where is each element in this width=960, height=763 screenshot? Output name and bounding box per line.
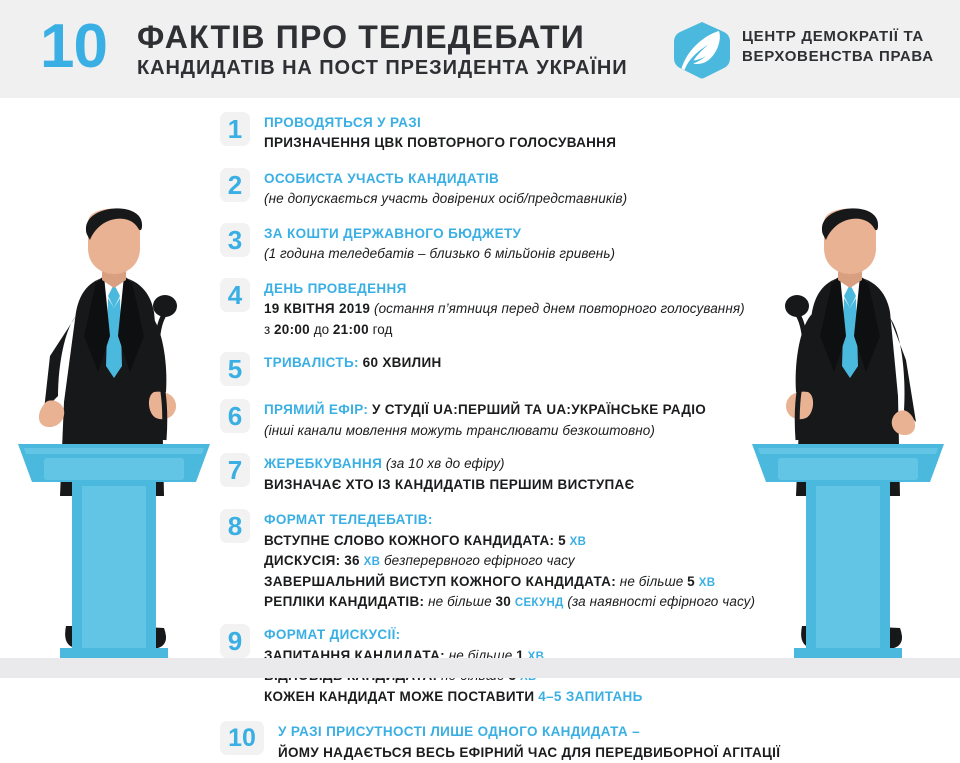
fact-line: ВИЗНАЧАЄ ХТО ІЗ КАНДИДАТІВ ПЕРШИМ ВИСТУП… <box>264 475 635 495</box>
fact-body: У РАЗІ ПРИСУТНОСТІ ЛИШЕ ОДНОГО КАНДИДАТА… <box>278 721 780 763</box>
fact-number-badge: 2 <box>220 168 250 202</box>
fact-text-segment: ВСТУПНЕ СЛОВО КОЖНОГО КАНДИДАТА: <box>264 533 554 548</box>
fact-body: ОСОБИСТА УЧАСТЬ КАНДИДАТІВ(не допускаєть… <box>264 168 627 210</box>
fact-text-segment: не більше <box>620 574 684 589</box>
fact-line: (не допускається участь довірених осіб/п… <box>264 189 627 209</box>
fact-line: ЙОМУ НАДАЄТЬСЯ ВЕСЬ ЕФІРНИЙ ЧАС ДЛЯ ПЕРЕ… <box>278 743 780 763</box>
fact-line: ФОРМАТ ДИСКУСІЇ: <box>264 625 643 645</box>
fact-text-segment: 5 <box>558 533 566 548</box>
organization-logo: ЦЕНТР ДЕМОКРАТІЇ ТА ВЕРХОВЕНСТВА ПРАВА <box>672 18 940 82</box>
fact-line: КОЖЕН КАНДИДАТ МОЖЕ ПОСТАВИТИ 4–5 ЗАПИТА… <box>264 687 643 707</box>
fact-text-segment: (за 10 хв до ефіру) <box>386 456 505 471</box>
fact-line: ТРИВАЛІСТЬ: 60 ХВИЛИН <box>264 353 442 373</box>
fact-text-segment: КОЖЕН КАНДИДАТ МОЖЕ ПОСТАВИТИ <box>264 689 534 704</box>
fact-text-segment: ПРОВОДЯТЬСЯ У РАЗІ <box>264 115 421 130</box>
fact-text-segment: ДЕНЬ ПРОВЕДЕННЯ <box>264 281 407 296</box>
header-band: 10 ФАКТІВ ПРО ТЕЛЕДЕБАТИ КАНДИДАТІВ НА П… <box>0 0 960 98</box>
fact-text-segment: до <box>310 322 333 337</box>
fact-item-2: 2ОСОБИСТА УЧАСТЬ КАНДИДАТІВ(не допускаєт… <box>220 168 790 210</box>
fact-text-segment: ДИСКУСІЯ: <box>264 553 340 568</box>
fact-line: ЗА КОШТИ ДЕРЖАВНОГО БЮДЖЕТУ <box>264 224 615 244</box>
fact-text-segment: 21:00 <box>333 322 369 337</box>
feather-quill-icon <box>672 20 732 80</box>
fact-line: ПРЯМИЙ ЕФІР: У СТУДІЇ UA:ПЕРШИЙ ТА UA:УК… <box>264 400 706 420</box>
fact-text-segment: СЕКУНД <box>515 597 564 609</box>
fact-item-5: 5ТРИВАЛІСТЬ: 60 ХВИЛИН <box>220 352 790 386</box>
fact-text-segment: ХВ <box>364 556 381 568</box>
fact-item-6: 6ПРЯМИЙ ЕФІР: У СТУДІЇ UA:ПЕРШИЙ ТА UA:У… <box>220 399 790 441</box>
fact-text-segment: У СТУДІЇ UA:ПЕРШИЙ ТА UA:УКРАЇНСЬКЕ РАДІ… <box>372 402 706 417</box>
page-title: ФАКТІВ ПРО ТЕЛЕДЕБАТИ <box>137 20 628 55</box>
header-big-number: 10 <box>40 16 107 78</box>
fact-number-badge: 3 <box>220 223 250 257</box>
logo-text: ЦЕНТР ДЕМОКРАТІЇ ТА ВЕРХОВЕНСТВА ПРАВА <box>742 27 934 68</box>
fact-text-segment: 5 <box>687 574 695 589</box>
fact-text-segment: У РАЗІ ПРИСУТНОСТІ ЛИШЕ ОДНОГО КАНДИДАТА… <box>278 724 640 739</box>
fact-line: (інші канали мовлення можуть транслювати… <box>264 421 706 441</box>
fact-body: ЗА КОШТИ ДЕРЖАВНОГО БЮДЖЕТУ(1 година тел… <box>264 223 615 265</box>
fact-text-segment: ТРИВАЛІСТЬ: <box>264 355 359 370</box>
fact-item-8: 8ФОРМАТ ТЕЛЕДЕБАТІВ:ВСТУПНЕ СЛОВО КОЖНОГ… <box>220 509 790 612</box>
fact-number-badge: 8 <box>220 509 250 543</box>
fact-text-segment: 30 <box>495 594 511 609</box>
fact-text-segment: ЙОМУ НАДАЄТЬСЯ ВЕСЬ ЕФІРНИЙ ЧАС ДЛЯ ПЕРЕ… <box>278 745 780 760</box>
footer-band <box>0 658 960 678</box>
fact-item-7: 7ЖЕРЕБКУВАННЯ (за 10 хв до ефіру)ВИЗНАЧА… <box>220 453 790 495</box>
fact-line: 19 КВІТНЯ 2019 (остання п’ятниця перед д… <box>264 299 745 319</box>
fact-text-segment: ОСОБИСТА УЧАСТЬ КАНДИДАТІВ <box>264 171 499 186</box>
fact-number-badge: 5 <box>220 352 250 386</box>
fact-text-segment: ПРИЗНАЧЕННЯ ЦВК ПОВТОРНОГО ГОЛОСУВАННЯ <box>264 135 616 150</box>
fact-text-segment: ФОРМАТ ТЕЛЕДЕБАТІВ: <box>264 512 433 527</box>
fact-line: (1 година теледебатів – близько 6 мільйо… <box>264 244 615 264</box>
fact-body: ТРИВАЛІСТЬ: 60 ХВИЛИН <box>264 352 442 373</box>
fact-number-badge: 10 <box>220 721 264 755</box>
fact-item-10: 10У РАЗІ ПРИСУТНОСТІ ЛИШЕ ОДНОГО КАНДИДА… <box>220 721 790 763</box>
fact-body: ПРЯМИЙ ЕФІР: У СТУДІЇ UA:ПЕРШИЙ ТА UA:УК… <box>264 399 706 441</box>
fact-number-badge: 9 <box>220 624 250 658</box>
fact-body: ФОРМАТ ТЕЛЕДЕБАТІВ:ВСТУПНЕ СЛОВО КОЖНОГО… <box>264 509 755 612</box>
fact-text-segment: (за наявності ефірного часу) <box>567 594 755 609</box>
fact-text-segment: 20:00 <box>274 322 310 337</box>
fact-text-segment: ЖЕРЕБКУВАННЯ <box>264 456 382 471</box>
fact-text-segment: 4–5 ЗАПИТАНЬ <box>538 689 643 704</box>
fact-line: ПРИЗНАЧЕННЯ ЦВК ПОВТОРНОГО ГОЛОСУВАННЯ <box>264 133 616 153</box>
fact-line: з 20:00 до 21:00 год <box>264 320 745 340</box>
fact-line: РЕПЛІКИ КАНДИДАТІВ: не більше 30 СЕКУНД … <box>264 592 755 612</box>
fact-line: ПРОВОДЯТЬСЯ У РАЗІ <box>264 113 616 133</box>
fact-line: У РАЗІ ПРИСУТНОСТІ ЛИШЕ ОДНОГО КАНДИДАТА… <box>278 722 780 742</box>
fact-text-segment: з <box>264 322 274 337</box>
fact-line: ЗАВЕРШАЛЬНИЙ ВИСТУП КОЖНОГО КАНДИДАТА: н… <box>264 572 755 592</box>
fact-item-4: 4ДЕНЬ ПРОВЕДЕННЯ19 КВІТНЯ 2019 (остання … <box>220 278 790 340</box>
fact-body: ЖЕРЕБКУВАННЯ (за 10 хв до ефіру)ВИЗНАЧАЄ… <box>264 453 635 495</box>
fact-text-segment: (остання п’ятниця перед днем повторного … <box>374 301 745 316</box>
fact-text-segment: ПРЯМИЙ ЕФІР: <box>264 402 368 417</box>
fact-text-segment: ЗАВЕРШАЛЬНИЙ ВИСТУП КОЖНОГО КАНДИДАТА: <box>264 574 616 589</box>
fact-line: ОСОБИСТА УЧАСТЬ КАНДИДАТІВ <box>264 169 627 189</box>
fact-line: ФОРМАТ ТЕЛЕДЕБАТІВ: <box>264 510 755 530</box>
fact-line: ДИСКУСІЯ: 36 ХВ безперервного ефірного ч… <box>264 551 755 571</box>
fact-text-segment: ФОРМАТ ДИСКУСІЇ: <box>264 627 401 642</box>
fact-line: ЖЕРЕБКУВАННЯ (за 10 хв до ефіру) <box>264 454 635 474</box>
fact-text-segment: (не допускається участь довірених осіб/п… <box>264 191 627 206</box>
fact-text-segment: год <box>369 322 392 337</box>
fact-text-segment: не більше <box>428 594 492 609</box>
fact-body: ДЕНЬ ПРОВЕДЕННЯ19 КВІТНЯ 2019 (остання п… <box>264 278 745 340</box>
fact-body: ПРОВОДЯТЬСЯ У РАЗІПРИЗНАЧЕННЯ ЦВК ПОВТОР… <box>264 112 616 154</box>
fact-number-badge: 6 <box>220 399 250 433</box>
infographic-page: 10 ФАКТІВ ПРО ТЕЛЕДЕБАТИ КАНДИДАТІВ НА П… <box>0 0 960 678</box>
logo-line-1: ЦЕНТР ДЕМОКРАТІЇ ТА <box>742 27 934 47</box>
fact-text-segment: ХВ <box>570 536 587 548</box>
fact-number-badge: 1 <box>220 112 250 146</box>
page-subtitle: КАНДИДАТІВ НА ПОСТ ПРЕЗИДЕНТА УКРАЇНИ <box>137 57 628 80</box>
fact-text-segment: ЗА КОШТИ ДЕРЖАВНОГО БЮДЖЕТУ <box>264 226 521 241</box>
fact-text-segment: ХВ <box>699 577 716 589</box>
fact-text-segment: ВИЗНАЧАЄ ХТО ІЗ КАНДИДАТІВ ПЕРШИМ ВИСТУП… <box>264 477 635 492</box>
fact-item-1: 1ПРОВОДЯТЬСЯ У РАЗІПРИЗНАЧЕННЯ ЦВК ПОВТО… <box>220 112 790 154</box>
fact-line: ВСТУПНЕ СЛОВО КОЖНОГО КАНДИДАТА: 5 ХВ <box>264 531 755 551</box>
logo-line-2: ВЕРХОВЕНСТВА ПРАВА <box>742 47 934 67</box>
fact-text-segment: 36 <box>344 553 360 568</box>
fact-text-segment: РЕПЛІКИ КАНДИДАТІВ: <box>264 594 424 609</box>
fact-item-3: 3ЗА КОШТИ ДЕРЖАВНОГО БЮДЖЕТУ(1 година те… <box>220 223 790 265</box>
speaker-at-podium-left <box>14 196 214 658</box>
fact-text-segment: (1 година теледебатів – близько 6 мільйо… <box>264 246 615 261</box>
fact-text-segment: 60 ХВИЛИН <box>363 355 442 370</box>
header-titles: ФАКТІВ ПРО ТЕЛЕДЕБАТИ КАНДИДАТІВ НА ПОСТ… <box>137 20 628 80</box>
fact-number-badge: 4 <box>220 278 250 312</box>
fact-text-segment: 19 КВІТНЯ 2019 <box>264 301 370 316</box>
fact-text-segment: (інші канали мовлення можуть транслювати… <box>264 423 655 438</box>
fact-number-badge: 7 <box>220 453 250 487</box>
fact-text-segment: безперервного ефірного часу <box>384 553 575 568</box>
fact-line: ДЕНЬ ПРОВЕДЕННЯ <box>264 279 745 299</box>
